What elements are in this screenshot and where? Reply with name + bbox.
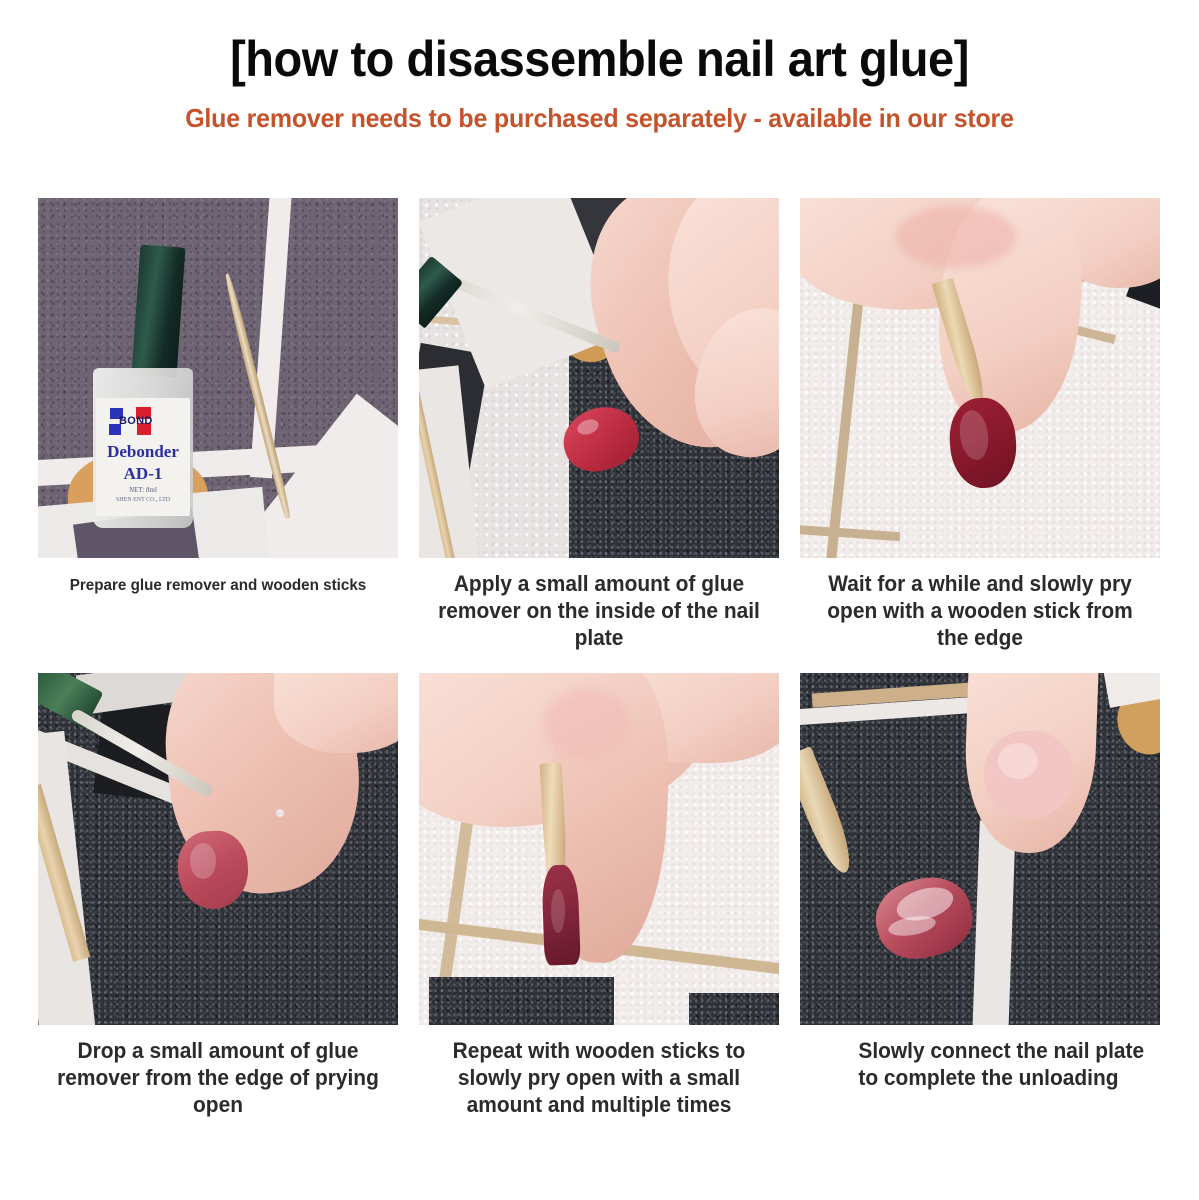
page-title: [how to disassemble nail art glue] xyxy=(36,30,1163,88)
dark-panel-bottom xyxy=(429,977,614,1025)
step-caption-5: Repeat with wooden sticks to slowly pry … xyxy=(428,1025,770,1118)
dark-panel-bottom-right xyxy=(689,993,779,1025)
step-caption-1: Prepare glue remover and wooden sticks xyxy=(47,558,389,596)
step-photo-5 xyxy=(419,673,779,1025)
page-subtitle: Glue remover needs to be purchased separ… xyxy=(24,102,1175,134)
step-photo-4 xyxy=(38,673,398,1025)
step-photo-1: BOND Debonder AD-1 NET: 8ml SHEN ENT CO.… xyxy=(38,198,398,558)
step-card-6: Slowly connect the nail plate to complet… xyxy=(800,673,1160,1118)
nail-highlight xyxy=(551,889,565,933)
step-photo-6 xyxy=(800,673,1160,1025)
step-caption-4: Drop a small amount of glue remover from… xyxy=(47,1025,389,1118)
bottle-label: BOND Debonder AD-1 NET: 8ml SHEN ENT CO.… xyxy=(96,398,190,516)
steps-row-1: BOND Debonder AD-1 NET: 8ml SHEN ENT CO.… xyxy=(38,198,1160,651)
page-header: [how to disassemble nail art glue] Glue … xyxy=(0,0,1199,134)
bottle-company-text: SHEN ENT CO., LTD xyxy=(96,497,190,503)
rhinestone xyxy=(276,809,284,817)
fingernail-pale xyxy=(543,689,629,759)
bottle-cap xyxy=(132,245,186,378)
step-card-4: Drop a small amount of glue remover from… xyxy=(38,673,398,1118)
step-photo-2 xyxy=(419,198,779,558)
bottle-product-text: Debonder xyxy=(96,442,190,462)
step-card-3: Wait for a while and slowly pry open wit… xyxy=(800,198,1160,651)
steps-row-2: Drop a small amount of glue remover from… xyxy=(38,673,1160,1118)
bottle-model-text: AD-1 xyxy=(96,464,190,484)
infographic-page: [how to disassemble nail art glue] Glue … xyxy=(0,0,1199,1200)
step-caption-6: Slowly connect the nail plate to complet… xyxy=(809,1025,1151,1091)
bottle-brand-text: BOND xyxy=(119,415,153,427)
step-caption-3: Wait for a while and slowly pry open wit… xyxy=(809,558,1151,651)
fingertip-blush xyxy=(896,206,1016,268)
step-caption-2: Apply a small amount of glue remover on … xyxy=(428,558,770,651)
nail-highlight xyxy=(190,843,216,879)
step-card-1: BOND Debonder AD-1 NET: 8ml SHEN ENT CO.… xyxy=(38,198,398,651)
step-photo-3 xyxy=(800,198,1160,558)
step-card-5: Repeat with wooden sticks to slowly pry … xyxy=(419,673,779,1118)
white-stripe-vertical xyxy=(972,820,1016,1025)
bottle-net-text: NET: 8ml xyxy=(96,486,190,494)
steps-grid: BOND Debonder AD-1 NET: 8ml SHEN ENT CO.… xyxy=(38,198,1160,1118)
step-card-2: Apply a small amount of glue remover on … xyxy=(419,198,779,651)
fingernail-highlight xyxy=(998,743,1038,779)
